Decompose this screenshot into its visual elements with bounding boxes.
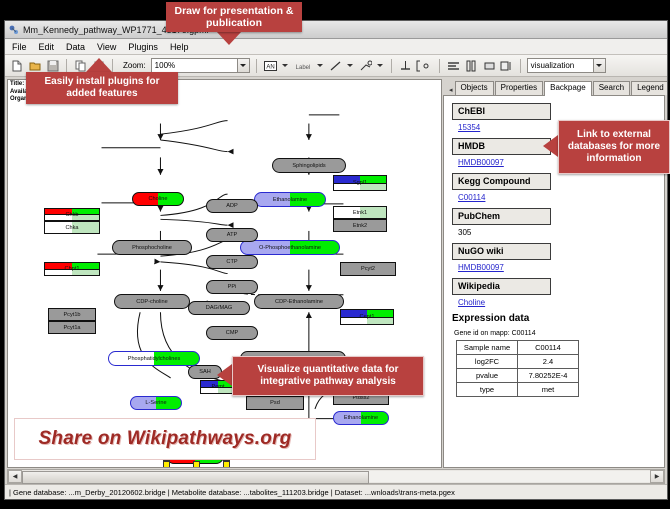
pathway-node-ophosphoethanolamine[interactable]: O-Phosphoethanolamine (240, 240, 340, 255)
pathway-node-etnk2[interactable]: Etnk2 (333, 219, 387, 232)
tab-properties[interactable]: Properties (495, 81, 543, 95)
pathway-node-label: O-Phosphoethanolamine (259, 245, 321, 251)
zoom-combo[interactable]: 100% (151, 58, 250, 73)
row-value: 2.4 (518, 355, 579, 369)
toolbar-separator-4 (391, 59, 392, 73)
annotation-link-arrow-icon (543, 135, 558, 157)
tab-legend[interactable]: Legend (631, 81, 668, 95)
pathway-node-label: Chka (65, 225, 78, 231)
menu-view[interactable]: View (95, 42, 118, 52)
pathway-node-pcyt1a[interactable]: Pcyt1a (48, 321, 96, 334)
zoom-value: 100% (155, 61, 175, 70)
pathway-node-label: ADP (226, 203, 238, 209)
zoom-label: Zoom: (123, 61, 146, 70)
selection-handle[interactable] (163, 461, 170, 468)
pathway-node-phosphocholine[interactable]: Phosphocholine (112, 240, 192, 255)
pathway-node-chkb[interactable]: Chkb (44, 208, 100, 221)
datanode-icon[interactable]: AN (263, 58, 278, 73)
db-name-nugo: NuGO wiki (452, 243, 551, 260)
pathway-node-label: Phosphatidylcholines (128, 356, 181, 362)
pathway-node-label: PPi (228, 284, 237, 290)
open-icon[interactable] (27, 58, 42, 73)
scroll-right-icon[interactable]: ▶ (650, 470, 664, 483)
annotation-visualize: Visualize quantitative data for integrat… (232, 356, 424, 396)
pathway-node-ctp[interactable]: CTP (206, 255, 258, 269)
tab-search[interactable]: Search (593, 81, 630, 95)
db-link-nugo[interactable]: HMDB00097 (458, 263, 658, 272)
interaction-icon[interactable] (358, 58, 373, 73)
status-bar: | Gene database: ...m_Derby_20120602.bri… (5, 484, 667, 499)
interaction-dropdown-icon[interactable] (376, 59, 385, 73)
pathway-node-phosphatidylcholines[interactable]: Phosphatidylcholines (108, 351, 200, 366)
label-dropdown-icon[interactable] (316, 59, 325, 73)
pathway-node-label: Ethanolamine (273, 197, 307, 203)
scroll-thumb[interactable] (22, 471, 369, 484)
row-value: 7.80252E-4 (518, 369, 579, 383)
annotation-link: Link to external databases for more info… (558, 120, 670, 174)
pathway-node-label: Psd (270, 400, 280, 406)
datanode-dropdown-icon[interactable] (281, 59, 290, 73)
pathway-node-dagmag[interactable]: DAG/MAG (188, 301, 250, 315)
db-link-wikipedia[interactable]: Choline (458, 298, 658, 307)
scroll-left-icon[interactable]: ◀ (8, 470, 22, 483)
pathway-node-label: L-Serine (145, 400, 166, 406)
pathway-node-lserine1[interactable]: L-Serine (130, 396, 182, 410)
pathway-node-ethanolamine2[interactable]: Ethanolamine (333, 411, 389, 425)
screenshot-root: Mm_Kennedy_pathway_WP1771_45176.gpml Fil… (0, 0, 670, 509)
order-icon[interactable] (500, 58, 514, 73)
pathway-node-label: Etnk1 (353, 210, 367, 216)
toolbar-separator-2 (112, 59, 113, 73)
anchor-icon[interactable] (398, 58, 413, 73)
pathway-node-psd[interactable]: Psd (246, 396, 304, 410)
pathway-node-sgpl1[interactable]: Sgpl1 (333, 175, 387, 191)
bracket-icon[interactable] (416, 58, 433, 73)
table-row: log2FC 2.4 (457, 355, 579, 369)
svg-text:Label: Label (295, 65, 310, 71)
pathway-canvas[interactable]: Title: Availa Organi (7, 79, 442, 468)
row-key: log2FC (457, 355, 518, 369)
expression-data-title: Expression data (452, 313, 658, 324)
label-icon[interactable]: Label (293, 58, 313, 73)
pathway-node-cdpcholine[interactable]: CDP-choline (114, 294, 190, 309)
pathway-node-label: DAG/MAG (206, 305, 232, 311)
toolbar-separator-1 (66, 59, 67, 73)
scroll-track[interactable] (22, 471, 650, 482)
pathway-node-atp[interactable]: ATP (206, 228, 258, 242)
tab-backpage[interactable]: Backpage (544, 81, 592, 96)
pathway-node-sphingolipids[interactable]: Sphingolipids (272, 158, 346, 173)
visualization-chevron-down-icon[interactable] (593, 59, 605, 72)
title-bar: Mm_Kennedy_pathway_WP1771_45176.gpml (5, 21, 667, 39)
pathway-node-label: CDP-Ethanolamine (275, 299, 323, 305)
annotation-plugins: Easily install plugins for added feature… (26, 72, 178, 104)
row-value: C00114 (518, 341, 579, 355)
pathway-node-cmp[interactable]: CMP (206, 326, 258, 340)
pathway-node-label: CDP-choline (136, 299, 167, 305)
table-row: type met (457, 383, 579, 397)
toolbar-separator-3 (256, 59, 257, 73)
stack-icon[interactable] (464, 58, 479, 73)
pathway-node-label: CTP (226, 259, 237, 265)
db-block-nugo: NuGO wiki HMDB00097 (452, 241, 658, 272)
pathway-node-cdpethanolamine[interactable]: CDP-Ethanolamine (254, 294, 344, 309)
line-dropdown-icon[interactable] (346, 59, 355, 73)
db-name-chebi: ChEBI (452, 103, 551, 120)
menu-edit[interactable]: Edit (37, 42, 57, 52)
menu-help[interactable]: Help (168, 42, 191, 52)
save-icon[interactable] (45, 58, 60, 73)
db-name-hmdb: HMDB (452, 138, 551, 155)
group-icon[interactable] (482, 58, 497, 73)
db-block-pubchem: PubChem 305 (452, 206, 658, 237)
pathway-node-label: Pcyt1a (63, 325, 80, 331)
chevron-down-icon[interactable] (237, 59, 249, 72)
pathway-node-chka[interactable]: Chka (44, 221, 100, 234)
pathway-node-ppi[interactable]: PPi (206, 280, 258, 294)
db-name-pubchem: PubChem (452, 208, 551, 225)
pathway-node-choline_top[interactable]: Choline (132, 192, 184, 206)
pathway-node-label: Choline (149, 196, 168, 202)
db-value-pubchem: 305 (458, 228, 658, 237)
menu-data[interactable]: Data (64, 42, 87, 52)
app-icon (8, 24, 19, 35)
svg-text:AN: AN (266, 64, 274, 70)
menu-plugins[interactable]: Plugins (126, 42, 160, 52)
menu-bar: File Edit Data View Plugins Help (5, 39, 667, 55)
gene-id-label: Gene id on mapp: C00114 (454, 330, 658, 337)
annotation-share-text: Share on Wikipathways.org (39, 428, 292, 450)
pathway-node-label: Pcyt1b (63, 312, 80, 318)
db-name-kegg: Kegg Compound (452, 173, 551, 190)
pathway-node-label: CMP (226, 330, 238, 336)
pathway-node-label: Ethanolamine (344, 415, 378, 421)
pathway-node-label: Cept1 (360, 314, 375, 320)
selection-handle[interactable] (223, 461, 230, 468)
tab-scroll-left-icon[interactable]: ◂ (449, 86, 454, 95)
annotation-plugins-arrow-icon (86, 58, 112, 72)
pathway-node-pcyt2[interactable]: Pcyt2 (340, 262, 396, 276)
row-value: met (518, 383, 579, 397)
pathway-node-label: ATP (227, 232, 237, 238)
align-icon[interactable] (446, 58, 461, 73)
expression-table: Sample name C00114 log2FC 2.4 pvalue 7.8… (456, 340, 579, 397)
pathway-node-etnk1[interactable]: Etnk1 (333, 206, 387, 219)
pathway-node-label: SAH (199, 369, 211, 375)
new-icon[interactable] (9, 58, 24, 73)
pathway-node-pcyt1b[interactable]: Pcyt1b (48, 308, 96, 321)
status-text: | Gene database: ...m_Derby_20120602.bri… (5, 488, 455, 497)
row-key: Sample name (457, 341, 518, 355)
tab-objects[interactable]: Objects (455, 81, 494, 95)
pathway-node-label: Sphingolipids (292, 163, 325, 169)
toolbar-separator-6 (520, 59, 521, 73)
pathway-node-label: Sgpl1 (353, 180, 367, 186)
selection-handle[interactable] (193, 461, 200, 468)
pathway-node-label: Phosphocholine (132, 245, 172, 251)
horizontal-scrollbar[interactable]: ◀ ▶ (7, 469, 665, 484)
line-icon[interactable] (328, 58, 343, 73)
db-name-wikipedia: Wikipedia (452, 278, 551, 295)
db-block-kegg: Kegg Compound C00114 (452, 171, 658, 202)
pathway-node-cept1[interactable]: Cept1 (340, 309, 394, 325)
annotation-visualize-arrow-icon (217, 364, 232, 386)
table-row: pvalue 7.80252E-4 (457, 369, 579, 383)
pathway-node-ethanolamine1[interactable]: Ethanolamine (254, 192, 326, 207)
pathway-node-chpt1[interactable]: Chpt1 (44, 262, 100, 276)
annotation-share: Share on Wikipathways.org (14, 418, 316, 460)
menu-file[interactable]: File (10, 42, 29, 52)
annotation-draw-arrow-icon (216, 31, 242, 45)
pathway-node-label: Chkb (65, 212, 78, 218)
pathway-node-label: Etnk2 (353, 223, 367, 229)
db-link-kegg[interactable]: C00114 (458, 193, 658, 202)
visualization-combo[interactable]: visualization (527, 58, 606, 73)
visualization-value: visualization (531, 61, 575, 70)
annotation-draw: Draw for presentation & publication (166, 2, 302, 32)
row-key: type (457, 383, 518, 397)
table-row: Sample name C00114 (457, 341, 579, 355)
tab-strip: ◂ Objects Properties Backpage Search Leg… (443, 79, 665, 96)
pathway-node-label: Pcyt2 (361, 266, 375, 272)
pathway-node-adp[interactable]: ADP (206, 199, 258, 213)
row-key: pvalue (457, 369, 518, 383)
db-block-wikipedia: Wikipedia Choline (452, 276, 658, 307)
toolbar-separator-5 (439, 59, 440, 73)
pathway-node-label: Chpt1 (65, 266, 80, 272)
